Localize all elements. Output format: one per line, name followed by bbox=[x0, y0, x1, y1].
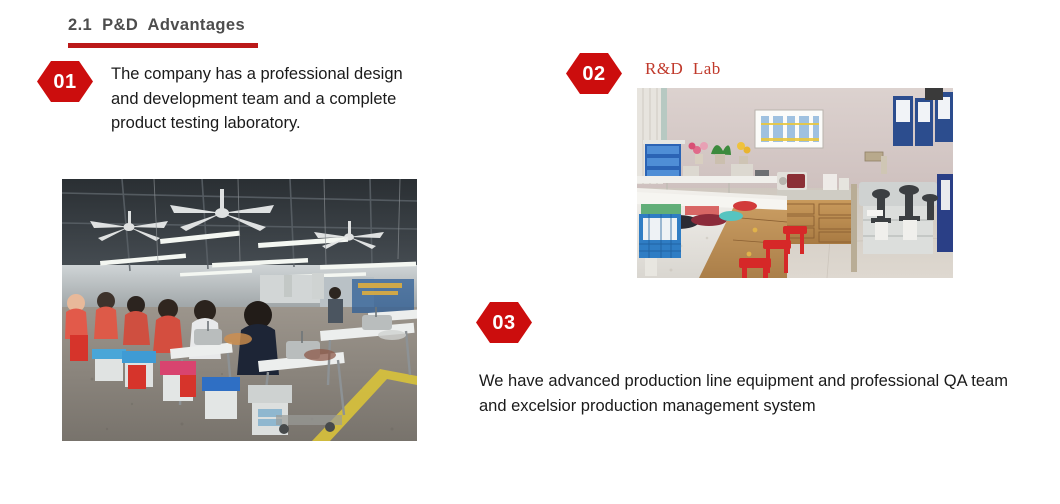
heading-underline-rule bbox=[68, 43, 258, 48]
heading-title: P&D Advantages bbox=[102, 16, 245, 34]
badge-label-01: 01 bbox=[53, 72, 76, 92]
badge-hexagon-01: 01 bbox=[37, 61, 93, 102]
badge-label-03: 03 bbox=[492, 313, 515, 333]
factory-photo-art bbox=[62, 179, 417, 441]
page-title: 2.1 P&D Advantages bbox=[68, 16, 245, 35]
heading-number: 2.1 bbox=[68, 16, 92, 34]
badge-label-02: 02 bbox=[582, 64, 605, 84]
rd-lab-photo-art bbox=[637, 88, 953, 278]
factory-sewing-floor-photo bbox=[62, 179, 417, 441]
item-01-text: The company has a professional design an… bbox=[111, 62, 431, 136]
rd-lab-photo bbox=[637, 88, 953, 278]
item-03-text: We have advanced production line equipme… bbox=[479, 369, 1024, 418]
badge-hexagon-02: 02 bbox=[566, 53, 622, 94]
badge-hexagon-03: 03 bbox=[476, 302, 532, 343]
rd-lab-caption: R&D Lab bbox=[645, 59, 721, 79]
